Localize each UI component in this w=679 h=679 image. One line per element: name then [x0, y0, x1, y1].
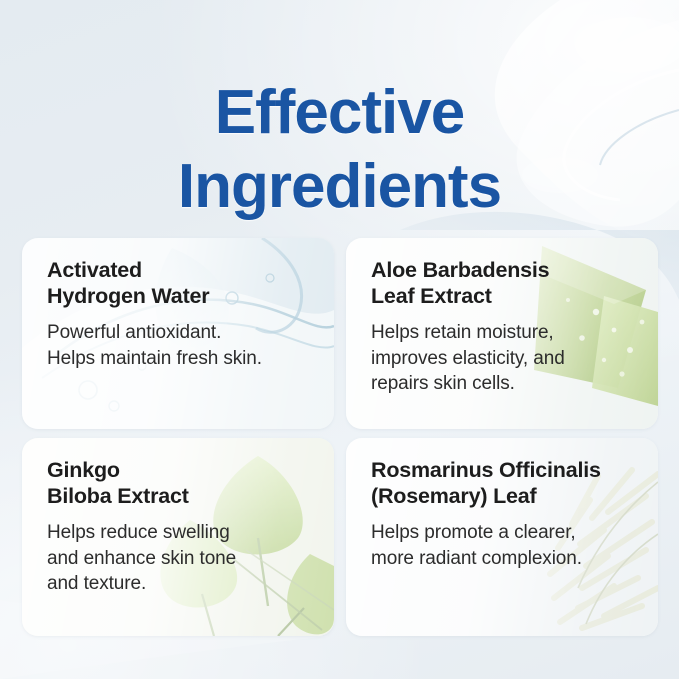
ingredient-card-ginkgo-biloba-extract[interactable]: Ginkgo Biloba Extract Helps reduce swell… [22, 438, 334, 636]
ingredient-card-aloe-barbadensis-leaf-extract[interactable]: Aloe Barbadensis Leaf Extract Helps reta… [346, 238, 658, 429]
card-description-line-1: Helps promote a clearer, [371, 522, 576, 543]
card-title-line-2: Leaf Extract [371, 284, 492, 308]
card-body: Activated Hydrogen Water Powerful antiox… [22, 238, 334, 371]
card-title: Rosmarinus Officinalis (Rosemary) Leaf [371, 457, 642, 509]
card-description-line-3: repairs skin cells. [371, 373, 515, 394]
card-body: Aloe Barbadensis Leaf Extract Helps reta… [346, 238, 658, 397]
card-description-line-2: improves elasticity, and [371, 348, 565, 369]
card-description: Helps promote a clearer, more radiant co… [371, 520, 642, 571]
card-title: Activated Hydrogen Water [47, 257, 318, 309]
card-title-line-2: Hydrogen Water [47, 284, 209, 308]
card-description: Powerful antioxidant. Helps maintain fre… [47, 320, 318, 371]
card-description-line-2: and enhance skin tone [47, 548, 236, 569]
ingredient-card-rosmarinus-officinalis-rosemary-leaf[interactable]: Rosmarinus Officinalis (Rosemary) Leaf H… [346, 438, 658, 636]
card-body: Ginkgo Biloba Extract Helps reduce swell… [22, 438, 334, 597]
card-title: Aloe Barbadensis Leaf Extract [371, 257, 642, 309]
ingredient-card-grid: Activated Hydrogen Water Powerful antiox… [22, 238, 658, 636]
card-description-line-1: Helps retain moisture, [371, 322, 554, 343]
card-body: Rosmarinus Officinalis (Rosemary) Leaf H… [346, 438, 658, 571]
page-title-line-2: Ingredients [0, 150, 679, 224]
card-title-line-1: Activated [47, 258, 142, 282]
page-title-line-1: Effective [215, 78, 464, 147]
card-description: Helps retain moisture, improves elastici… [371, 320, 642, 397]
card-description-line-2: Helps maintain fresh skin. [47, 348, 262, 369]
page-title: Effective Ingredients [0, 76, 679, 224]
card-title-line-1: Ginkgo [47, 458, 120, 482]
card-title-line-2: (Rosemary) Leaf [371, 484, 536, 508]
ingredients-poster: Effective Ingredients [0, 0, 679, 679]
card-title-line-1: Rosmarinus Officinalis [371, 458, 601, 482]
card-description-line-1: Powerful antioxidant. [47, 322, 221, 343]
card-description-line-1: Helps reduce swelling [47, 522, 230, 543]
card-description-line-3: and texture. [47, 573, 146, 594]
card-title: Ginkgo Biloba Extract [47, 457, 318, 509]
card-title-line-1: Aloe Barbadensis [371, 258, 549, 282]
card-title-line-2: Biloba Extract [47, 484, 189, 508]
card-description: Helps reduce swelling and enhance skin t… [47, 520, 318, 597]
ingredient-card-activated-hydrogen-water[interactable]: Activated Hydrogen Water Powerful antiox… [22, 238, 334, 429]
card-description-line-2: more radiant complexion. [371, 548, 582, 569]
